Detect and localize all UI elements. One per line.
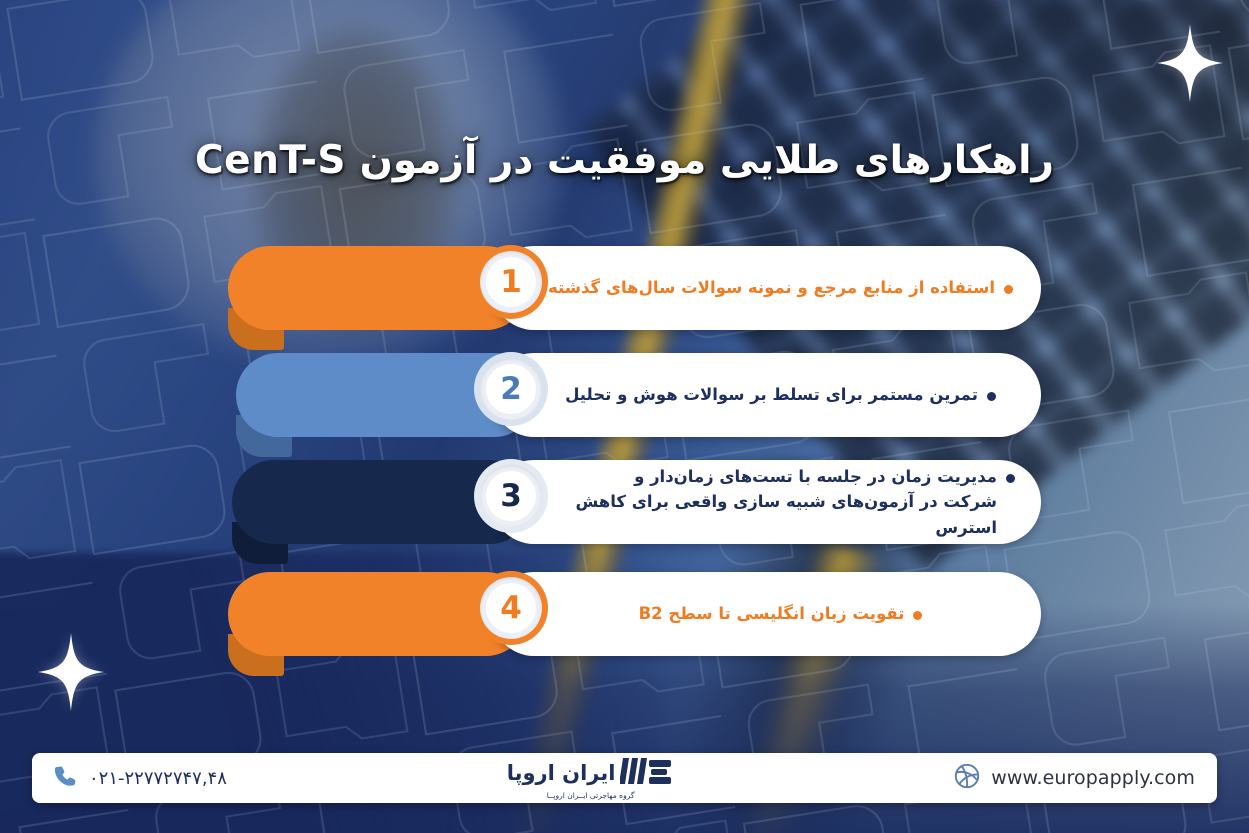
logo-tagline: گروه مهاجرتی ایــران اروپــا <box>547 791 635 800</box>
step-pill: استفاده از منابع مرجع و نمونه سوالات سال… <box>492 246 1041 330</box>
list-item[interactable]: مدیریت زمان در جلسه با تست‌های زمان‌دار … <box>0 452 1249 564</box>
badge-number: 3 <box>486 471 536 521</box>
bullet-icon <box>987 392 996 401</box>
footer-bar: www.europapply.com ایران اروپا گروه مهاج… <box>32 753 1217 803</box>
logo-wordmark: ایران اروپا <box>507 761 616 785</box>
bullet-icon <box>913 611 922 620</box>
bullet-icon <box>1004 285 1013 294</box>
page-title: راهکارهای طلایی موفقیت در آزمون CenT-S <box>195 138 1054 183</box>
phone-icon <box>54 764 78 792</box>
step-number-badge: 3 <box>474 459 548 533</box>
page-title-wrap: راهکارهای طلایی موفقیت در آزمون CenT-S <box>0 138 1249 183</box>
bullet-icon <box>1006 474 1015 483</box>
step-pill: تقویت زبان انگلیسی تا سطح B2 <box>492 572 1041 656</box>
badge-ring: 1 <box>480 251 542 313</box>
step-text: تقویت زبان انگلیسی تا سطح B2 <box>639 601 905 627</box>
badge-number: 2 <box>486 364 536 414</box>
sparkle-icon <box>1157 24 1223 106</box>
list-item[interactable]: تقویت زبان انگلیسی تا سطح B2 4 <box>0 564 1249 671</box>
badge-number: 1 <box>486 257 536 307</box>
infographic-poster: راهکارهای طلایی موفقیت در آزمون CenT-S ا… <box>0 0 1249 833</box>
badge-number: 4 <box>486 583 536 633</box>
step-text: مدیریت زمان در جلسه با تست‌های زمان‌دار … <box>546 464 997 541</box>
phone-number[interactable]: ۰۲۱-۲۲۷۷۲۷۴۷,۴۸ <box>89 768 227 789</box>
step-number-badge: 4 <box>474 571 548 645</box>
brand-logo: ایران اروپا گروه مهاجرتی ایــران اروپــا <box>507 756 675 800</box>
step-text: استفاده از منابع مرجع و نمونه سوالات سال… <box>548 275 995 301</box>
step-pill: مدیریت زمان در جلسه با تست‌های زمان‌دار … <box>492 460 1041 544</box>
step-text: تمرین مستمر برای تسلط بر سوالات هوش و تح… <box>565 382 978 408</box>
badge-ring: 4 <box>480 577 542 639</box>
globe-icon <box>954 763 980 793</box>
step-number-badge: 1 <box>474 245 548 319</box>
step-pill: تمرین مستمر برای تسلط بر سوالات هوش و تح… <box>492 353 1041 437</box>
logo-mark-icon <box>620 756 674 790</box>
phone-group[interactable]: ۰۲۱-۲۲۷۷۲۷۴۷,۴۸ <box>54 764 227 792</box>
list-item[interactable]: تمرین مستمر برای تسلط بر سوالات هوش و تح… <box>0 345 1249 452</box>
steps-list: استفاده از منابع مرجع و نمونه سوالات سال… <box>0 238 1249 671</box>
sparkle-icon <box>38 633 104 715</box>
list-item[interactable]: استفاده از منابع مرجع و نمونه سوالات سال… <box>0 238 1249 345</box>
badge-ring: 3 <box>480 465 542 527</box>
website-group[interactable]: www.europapply.com <box>954 763 1195 793</box>
step-number-badge: 2 <box>474 352 548 426</box>
website-url[interactable]: www.europapply.com <box>991 767 1195 789</box>
badge-ring: 2 <box>480 358 542 420</box>
